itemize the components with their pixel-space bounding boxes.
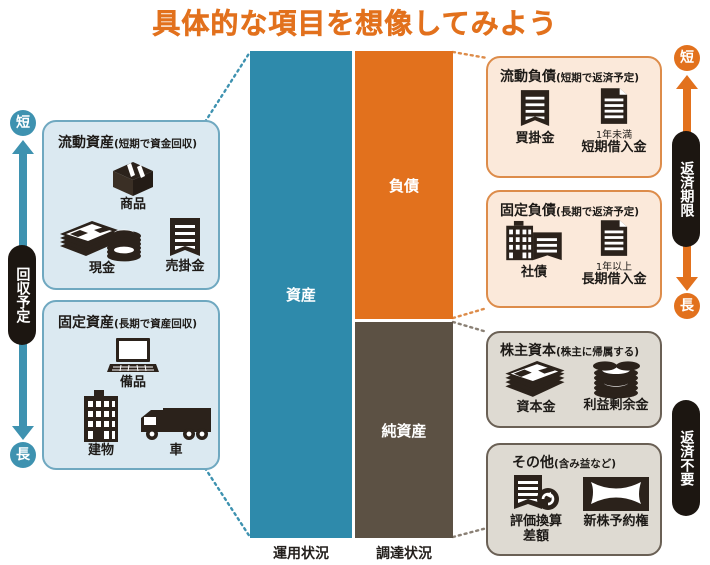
net-assets-bar-label: 純資産 [381, 420, 426, 441]
other-equity-box[interactable]: その他(含み益など) 評価換算差額 新株予約権 [486, 443, 662, 556]
item-shihonkin: 資本金 [498, 361, 574, 416]
current-liabilities-subtitle: (短期で返済予定) [556, 72, 639, 84]
coins-icon [587, 357, 645, 399]
item-shohin-label: 商品 [120, 198, 146, 213]
liability-bar[interactable]: 負債 [355, 51, 453, 319]
document-folded-icon [599, 218, 629, 258]
item-hyoukakansanzagaku: 評価換算差額 [496, 473, 576, 544]
recovery-axis: 短 長 回収予定 [6, 110, 40, 470]
item-riekijouyokin: 利益剰余金 [574, 357, 658, 414]
fixed-assets-box[interactable]: 固定資産(長期で資産回収) 備品 [42, 300, 220, 470]
item-kaikakekin: 買掛金 [502, 88, 568, 147]
cash-stack-icon [58, 216, 146, 262]
item-shinkabuyoyakuken: 新株予約権 [574, 475, 658, 530]
fixed-assets-title-main: 固定資産 [58, 315, 114, 331]
other-equity-subtitle: (含み益など) [554, 458, 616, 470]
item-urikakekin: 売掛金 [154, 216, 216, 275]
item-kuruma: 車 [136, 404, 216, 459]
repayment-axis-down-arrow [676, 277, 698, 291]
fixed-liabilities-box[interactable]: 固定負債(長期で返済予定) 社債 [486, 190, 662, 308]
item-hyoukakansanzagaku-line2: 差額 [523, 529, 549, 544]
cash-stack-icon [503, 361, 569, 399]
item-shasai-label: 社債 [521, 266, 547, 281]
fixed-liabilities-title: 固定負債(長期で返済予定) [500, 200, 639, 220]
fixed-liabilities-title-main: 固定負債 [500, 203, 556, 219]
item-tankikariirekin: 1年未満 短期借入金 [572, 86, 656, 156]
item-kuruma-label: 車 [169, 444, 182, 459]
recovery-axis-short-cap: 短 [10, 110, 36, 136]
current-assets-title: 流動資産(短期で資金回収) [58, 132, 197, 152]
asset-bar-caption: 運用状況 [250, 543, 352, 563]
current-assets-box[interactable]: 流動資産(短期で資金回収) 商品 [42, 120, 220, 290]
document-refresh-icon [512, 473, 560, 515]
repayment-axis-short-cap: 短 [674, 45, 700, 71]
other-equity-title: その他(含み益など) [512, 452, 616, 472]
item-choukikariirekin-note: 1年以上 [596, 258, 632, 273]
document-icon [168, 216, 202, 260]
current-liabilities-box[interactable]: 流動負債(短期で返済予定) 買掛金 1年未満 短期借入金 [486, 56, 662, 178]
recovery-axis-long-cap: 長 [10, 442, 36, 468]
recovery-axis-down-arrow [12, 426, 34, 440]
recovery-axis-pill: 回収予定 [8, 245, 36, 345]
item-shohin: 商品 [102, 158, 164, 213]
certificate-icon [581, 475, 651, 515]
diagram-canvas: 具体的な項目を想像してみよう 短 長 回収予定 流動資産(短期で資金回収) [0, 0, 710, 565]
other-equity-title-main: その他 [512, 455, 554, 471]
item-hyoukakansanzagaku-line1: 評価換算 [510, 514, 562, 529]
net-assets-bar[interactable]: 純資産 [355, 322, 453, 538]
current-assets-subtitle: (短期で資金回収) [114, 138, 197, 150]
item-shihonkin-label: 資本金 [516, 401, 555, 416]
item-tatemono: 建物 [64, 388, 138, 459]
item-hyoukakansanzagaku-label: 評価換算差額 [510, 515, 562, 544]
building-document-icon [501, 220, 567, 264]
item-choukikariirekin: 1年以上 長期借入金 [572, 218, 656, 288]
shareholders-equity-box[interactable]: 株主資本(株主に帰属する) 資本金 [486, 331, 662, 428]
item-bihin: 備品 [102, 336, 164, 391]
item-genkin-label: 現金 [89, 262, 115, 277]
no-repayment-pill: 返済不要 [672, 400, 700, 516]
item-shasai: 社債 [496, 220, 572, 281]
asset-bar-label: 資産 [286, 284, 316, 305]
item-urikakekin-label: 売掛金 [165, 260, 204, 275]
laptop-icon [107, 336, 159, 376]
current-assets-title-main: 流動資産 [58, 135, 114, 151]
fixed-assets-title: 固定資産(長期で資産回収) [58, 312, 197, 332]
repayment-axis-long-cap: 長 [674, 293, 700, 319]
document-icon [519, 88, 551, 130]
truck-icon [139, 404, 213, 444]
item-tankikariirekin-label: 短期借入金 [581, 141, 646, 156]
item-shinkabuyoyakuken-label: 新株予約権 [583, 515, 648, 530]
repayment-deadline-axis: 短 長 返済期限 [670, 45, 704, 315]
document-folded-icon [599, 86, 629, 126]
item-choukikariirekin-label: 長期借入金 [581, 273, 646, 288]
fixed-assets-subtitle: (長期で資産回収) [114, 318, 197, 330]
item-tatemono-label: 建物 [88, 444, 114, 459]
asset-bar[interactable]: 資産 [250, 51, 352, 538]
liability-bar-label: 負債 [389, 175, 419, 196]
building-icon [76, 388, 126, 444]
fixed-liabilities-subtitle: (長期で返済予定) [556, 206, 639, 218]
item-tankikariirekin-note: 1年未満 [596, 126, 632, 141]
shareholders-equity-title-main: 株主資本 [500, 343, 556, 359]
box-icon [110, 158, 156, 198]
current-liabilities-title: 流動負債(短期で返済予定) [500, 66, 639, 86]
item-riekijouyokin-label: 利益剰余金 [583, 399, 648, 414]
liability-bar-caption: 調達状況 [355, 543, 453, 563]
current-liabilities-title-main: 流動負債 [500, 69, 556, 85]
item-kaikakekin-label: 買掛金 [515, 132, 554, 147]
item-genkin: 現金 [56, 216, 148, 277]
repayment-axis-pill: 返済期限 [672, 131, 700, 247]
page-title: 具体的な項目を想像してみよう [0, 2, 710, 42]
